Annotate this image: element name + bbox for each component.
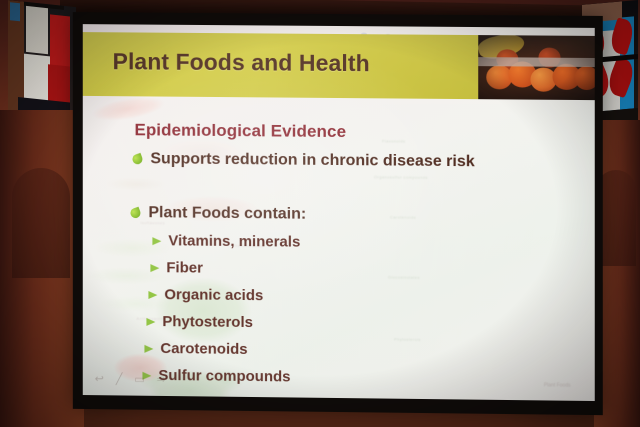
previous-slide-icon[interactable]: ↩: [95, 374, 104, 385]
green-arrow-bullet-icon: [140, 398, 149, 401]
bullet-label: Plant Foods contain:: [148, 204, 306, 223]
slide-title: Plant Foods and Health: [113, 48, 370, 77]
footer-watermark: Plant Foods: [544, 382, 571, 388]
list-item: Organic acids: [148, 286, 263, 304]
list-item: Vitamins, minerals: [152, 232, 300, 250]
wall-pillar-left: [0, 110, 84, 427]
list-item-label: Sulfur compounds: [158, 367, 290, 385]
green-arrow-bullet-icon: [144, 344, 153, 352]
presentation-controls[interactable]: ↩ ╱ ▭ ⇒: [95, 374, 166, 386]
list-item-label: Polyphenolic compounds: [156, 394, 338, 401]
tomatoes-peppers-photo: [478, 35, 595, 100]
green-leaf-bullet-icon: [129, 207, 142, 220]
presentation-slide[interactable]: Flavonoids Organosulfur compounds Carote…: [83, 24, 595, 401]
list-item: Fiber: [150, 259, 202, 277]
bullet-label: Supports reduction in chronic disease ri…: [150, 150, 474, 171]
projection-screen-frame: Flavonoids Organosulfur compounds Carote…: [73, 12, 603, 415]
pen-annotate-icon[interactable]: ╱: [116, 374, 123, 385]
list-item-label: Carotenoids: [160, 340, 247, 358]
green-arrow-bullet-icon: [146, 317, 155, 325]
slide-title-band: Plant Foods and Health: [83, 32, 595, 100]
list-item-label: Phytosterols: [162, 313, 253, 331]
list-item: Carotenoids: [144, 340, 247, 358]
green-arrow-bullet-icon: [152, 237, 161, 245]
bullet-plant-foods-contain: Plant Foods contain:: [131, 204, 307, 224]
bullet-supports-reduction: Supports reduction in chronic disease ri…: [132, 150, 474, 171]
green-leaf-bullet-icon: [131, 153, 144, 166]
list-item-label: Vitamins, minerals: [168, 232, 300, 250]
slide-body: Epidemiological Evidence Supports reduct…: [83, 96, 595, 401]
green-arrow-bullet-icon: [150, 264, 159, 272]
list-item: Polyphenolic compounds: [140, 394, 338, 401]
slide-menu-icon[interactable]: ▭: [134, 375, 144, 386]
next-slide-icon[interactable]: ⇒: [157, 375, 166, 386]
list-item: Phytosterols: [146, 313, 253, 331]
list-item-label: Fiber: [166, 259, 203, 276]
room-background: Flavonoids Organosulfur compounds Carote…: [0, 0, 640, 427]
list-item-label: Organic acids: [164, 286, 263, 304]
heading-epidemiological-evidence: Epidemiological Evidence: [134, 120, 346, 142]
green-arrow-bullet-icon: [148, 291, 157, 299]
